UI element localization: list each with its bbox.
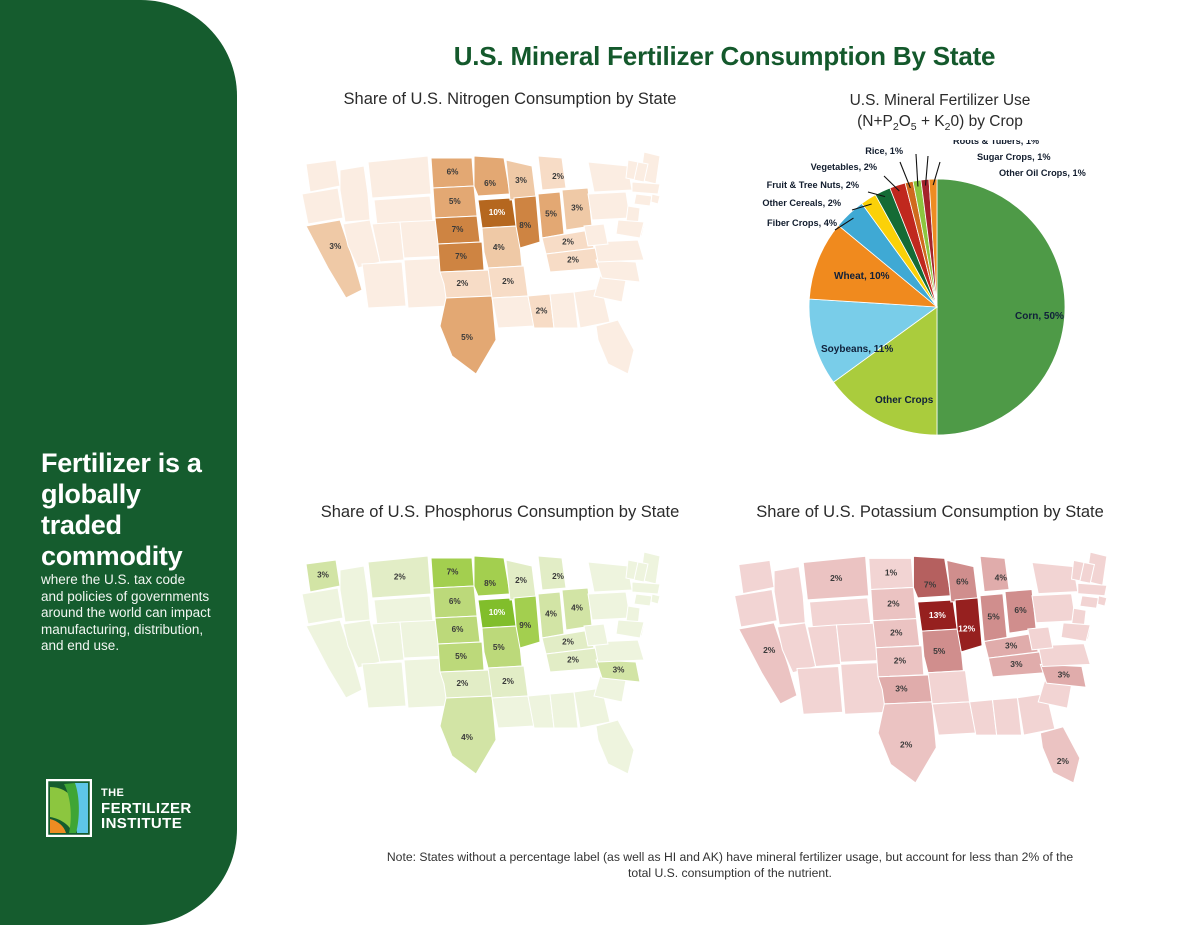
state-label-ia: 10%: [489, 208, 506, 217]
state-label-il: 9%: [519, 621, 532, 630]
nitrogen-choropleth-map[interactable]: WAORCAIDNVMTWYUTAZCONMNDSDNEKSOKTXMNIAMO…: [288, 150, 688, 400]
state-ri[interactable]: RI: [651, 194, 660, 204]
state-label-fl: 2%: [1057, 756, 1070, 766]
state-la[interactable]: LA: [932, 702, 976, 735]
state-label-tx: 5%: [461, 333, 474, 342]
fertilizer-institute-logo: THE FERTILIZER INSTITUTE: [46, 779, 192, 837]
pie-label-soybeans: Soybeans, 11%: [821, 344, 893, 355]
state-label-tn: 3%: [1010, 659, 1023, 669]
state-ct[interactable]: CT: [634, 594, 652, 606]
state-label-mo: 5%: [493, 643, 506, 652]
state-label-in: 5%: [545, 210, 558, 219]
state-label-ks: 2%: [894, 656, 907, 666]
state-label-nc: 3%: [613, 666, 626, 675]
state-mt[interactable]: MT: [368, 156, 431, 198]
state-label-mn: 8%: [484, 579, 497, 588]
phosphorus-map-title: Share of U.S. Phosphorus Consumption by …: [290, 503, 710, 522]
infographic-page: Fertilizer is a globally traded commodit…: [0, 0, 1197, 925]
pie-slice-corn[interactable]: Corn, 50%: [937, 179, 1065, 435]
pie-label-sugar-crops: Sugar Crops, 1%: [977, 152, 1051, 162]
state-label-oh: 6%: [1014, 605, 1027, 615]
pie-chart-title: U.S. Mineral Fertilizer Use (N+P2O5 + K2…: [800, 90, 1080, 138]
state-or[interactable]: OR: [302, 188, 343, 224]
state-label-oh: 3%: [571, 204, 584, 213]
state-label-ne: 7%: [452, 225, 465, 234]
logo-line-institute: INSTITUTE: [101, 816, 192, 831]
pie-label-vegetables: Vegetables, 2%: [811, 162, 877, 172]
state-wv[interactable]: WV: [584, 624, 608, 646]
state-label-in: 4%: [545, 610, 558, 619]
state-label-mt: 2%: [830, 573, 843, 583]
state-or[interactable]: OR: [302, 588, 343, 624]
state-label-ms: 2%: [536, 307, 549, 316]
state-la[interactable]: LA: [492, 696, 534, 728]
state-az[interactable]: AZ: [362, 662, 406, 708]
logo-leaf-icon: [46, 779, 92, 837]
page-title: U.S. Mineral Fertilizer Consumption By S…: [262, 41, 1187, 72]
logo-line-fertilizer: FERTILIZER: [101, 801, 192, 816]
state-wv[interactable]: WV: [1028, 627, 1053, 650]
state-id[interactable]: ID: [340, 566, 370, 622]
state-ny[interactable]: NY: [588, 162, 632, 192]
state-label-nd: 1%: [885, 568, 898, 578]
state-label-ok: 2%: [456, 679, 469, 688]
state-label-ok: 3%: [895, 684, 908, 694]
pie-label-roots-tubers: Roots & Tubers, 1%: [953, 140, 1039, 146]
state-label-mn: 7%: [924, 580, 937, 590]
state-label-in: 5%: [987, 611, 1000, 621]
state-id[interactable]: ID: [774, 567, 805, 625]
state-label-ar: 2%: [502, 677, 515, 686]
pie-label-corn: Corn, 50%: [1015, 311, 1064, 322]
state-label-oh: 4%: [571, 604, 584, 613]
state-fl[interactable]: FL: [596, 320, 634, 374]
sidebar-headline: Fertilizer is a globally traded commodit…: [41, 448, 221, 572]
nitrogen-map-title: Share of U.S. Nitrogen Consumption by St…: [300, 90, 720, 109]
pie-label-rice: Rice, 1%: [865, 146, 903, 156]
state-wa[interactable]: WA: [739, 560, 774, 593]
state-or[interactable]: OR: [735, 590, 778, 627]
state-ma[interactable]: MA: [632, 582, 660, 594]
pie-label-wheat: Wheat, 10%: [834, 271, 890, 282]
state-fl[interactable]: FL: [596, 720, 634, 774]
state-ri[interactable]: RI: [1098, 596, 1107, 606]
state-label-mo: 4%: [493, 243, 506, 252]
state-pa[interactable]: PA: [588, 192, 630, 220]
state-label-wi: 6%: [956, 576, 969, 586]
sidebar-body-text: where the U.S. tax code and policies of …: [41, 572, 211, 655]
state-label-ks: 5%: [455, 652, 468, 661]
state-label-il: 8%: [519, 221, 532, 230]
logo-wordmark: THE FERTILIZER INSTITUTE: [101, 786, 192, 831]
state-label-nd: 7%: [447, 568, 460, 577]
state-md[interactable]: MD: [616, 620, 644, 638]
state-md[interactable]: MD: [616, 220, 644, 238]
state-md[interactable]: MD: [1061, 623, 1090, 642]
state-al[interactable]: AL: [992, 698, 1021, 735]
pie-label-other-cereals: Other Cereals, 2%: [762, 198, 841, 208]
state-label-mi: 2%: [552, 172, 565, 181]
state-id[interactable]: ID: [340, 166, 370, 222]
state-label-ca: 3%: [329, 242, 342, 251]
state-label-mo: 5%: [933, 646, 946, 656]
state-al[interactable]: AL: [550, 292, 578, 328]
state-label-ne: 2%: [890, 627, 903, 637]
state-mn[interactable]: MN: [913, 556, 950, 598]
state-ma[interactable]: MA: [632, 182, 660, 194]
state-az[interactable]: AZ: [797, 666, 843, 714]
state-ar[interactable]: AR: [928, 671, 970, 704]
state-ny[interactable]: NY: [1032, 562, 1078, 593]
state-label-mi: 2%: [552, 572, 565, 581]
state-label-nd: 6%: [447, 168, 460, 177]
state-pa[interactable]: PA: [1032, 594, 1076, 623]
state-label-ky: 3%: [1005, 640, 1018, 650]
pie-label-other-oil-crops: Other Oil Crops, 1%: [999, 168, 1086, 178]
state-label-sd: 2%: [887, 598, 900, 608]
state-label-ar: 2%: [502, 277, 515, 286]
state-label-wi: 2%: [515, 576, 528, 585]
state-label-sd: 5%: [449, 197, 462, 206]
state-mn[interactable]: MN: [474, 156, 510, 196]
pie-label-fruit-tree-nuts: Fruit & Tree Nuts, 2%: [767, 180, 859, 190]
state-wv[interactable]: WV: [584, 224, 608, 246]
phosphorus-choropleth-map[interactable]: WAORCAIDNVMTWYUTAZCONMNDSDNEKSOKTXMNIAMO…: [288, 550, 688, 800]
state-fl[interactable]: FL: [1040, 727, 1080, 783]
pie-title-line1: U.S. Mineral Fertilizer Use: [800, 90, 1080, 111]
state-label-tn: 2%: [567, 656, 580, 665]
state-label-tx: 2%: [900, 739, 913, 749]
state-label-ky: 2%: [562, 638, 575, 647]
state-ma[interactable]: MA: [1078, 583, 1107, 595]
footnote: Note: States without a percentage label …: [380, 849, 1080, 881]
state-la[interactable]: LA: [492, 296, 534, 328]
state-label-wi: 3%: [515, 176, 528, 185]
potassium-map-title: Share of U.S. Potassium Consumption by S…: [720, 503, 1140, 522]
state-ri[interactable]: RI: [651, 594, 660, 604]
state-label-tx: 4%: [461, 733, 474, 742]
state-label-ia: 13%: [929, 610, 946, 620]
pie-title-line2: (N+P2O5 + K20) by Crop: [800, 111, 1080, 138]
state-label-mt: 2%: [394, 573, 407, 582]
state-label-tn: 2%: [567, 256, 580, 265]
state-label-mi: 4%: [995, 572, 1008, 582]
state-label-ia: 10%: [489, 608, 506, 617]
state-label-mn: 6%: [484, 179, 497, 188]
state-label-sd: 6%: [449, 597, 462, 606]
state-az[interactable]: AZ: [362, 262, 406, 308]
pie-label-fiber-crops: Fiber Crops, 4%: [767, 218, 837, 228]
state-ct[interactable]: CT: [634, 194, 652, 206]
state-label-ok: 2%: [456, 279, 469, 288]
potassium-choropleth-map[interactable]: WAORCAIDNVMTWYUTAZCONMNDSDNEKSOKTXMNIAMO…: [718, 550, 1138, 810]
state-label-ky: 2%: [562, 238, 575, 247]
state-al[interactable]: AL: [550, 692, 578, 728]
state-label-nc: 3%: [1058, 670, 1071, 680]
state-label-ca: 2%: [763, 645, 776, 655]
state-label-wa: 3%: [317, 571, 330, 580]
state-ny[interactable]: NY: [588, 562, 632, 592]
pie-label-other-crops: Other Crops: [875, 395, 934, 406]
state-label-ks: 7%: [455, 252, 468, 261]
crop-pie-chart[interactable]: Corn, 50%Other CropsSoybeans, 11%Wheat, …: [760, 140, 1090, 460]
state-pa[interactable]: PA: [588, 592, 630, 620]
state-label-il: 12%: [958, 623, 975, 633]
sidebar: Fertilizer is a globally traded commodit…: [0, 0, 237, 925]
state-wa[interactable]: WA: [306, 160, 340, 192]
logo-line-the: THE: [101, 786, 192, 801]
state-label-ne: 6%: [452, 625, 465, 634]
state-ct[interactable]: CT: [1080, 596, 1099, 608]
state-mn[interactable]: MN: [474, 556, 510, 596]
